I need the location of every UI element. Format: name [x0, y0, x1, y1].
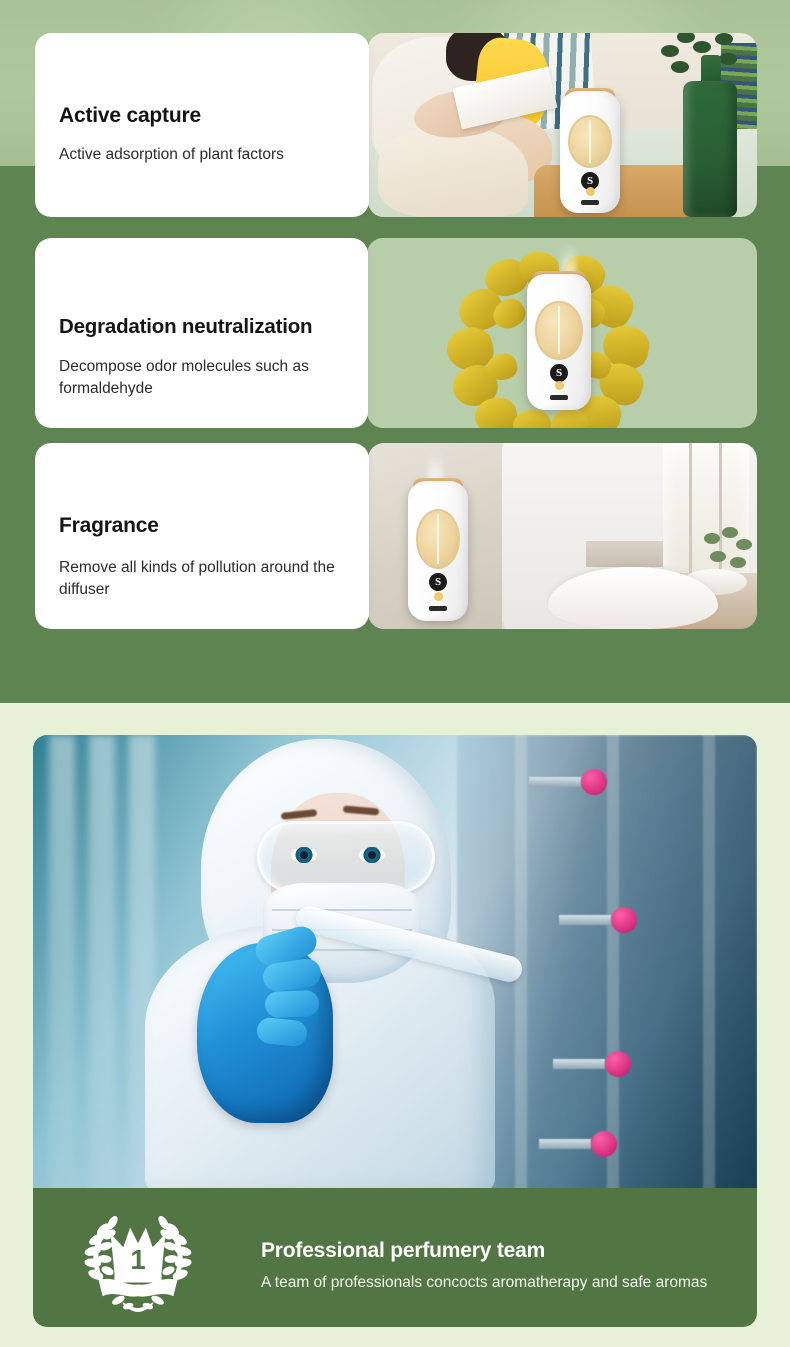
- feature-card-image-golden-flowers: S: [367, 238, 757, 428]
- feature-card-title: Active capture: [59, 104, 201, 128]
- feature-card-title: Fragrance: [59, 514, 159, 538]
- feature-card-degradation-neutralization[interactable]: S Degradation neutralization Decompose o…: [35, 238, 757, 428]
- device-logo: S: [550, 364, 568, 382]
- wall-niche: [586, 541, 670, 567]
- green-glass-bottle: [683, 81, 737, 217]
- feature-card-active-capture[interactable]: S Active capture Active adsorption of pl…: [35, 33, 757, 217]
- features-section: S Active capture Active adsorption of pl…: [0, 0, 790, 703]
- device-vent-slot: [581, 200, 599, 205]
- feature-card-fragrance[interactable]: S Fragrance Remove all kinds of pollutio…: [35, 443, 757, 629]
- device-vent-slot: [429, 606, 447, 611]
- device-indicator-light: [586, 187, 595, 196]
- device-body: S: [560, 91, 620, 213]
- diffuser-device: S: [560, 91, 620, 213]
- device-oil-window: [535, 301, 582, 359]
- device-logo: S: [429, 573, 447, 591]
- feature-card-description: Decompose odor molecules such as formald…: [59, 356, 359, 400]
- device-vent-slot: [550, 395, 568, 400]
- laurel-crown-badge-icon: 1: [79, 1204, 197, 1312]
- blanket: [378, 125, 528, 217]
- team-caption-banner: 1 Professional perfumery team A team of …: [33, 1188, 757, 1327]
- feature-card-description: Active adsorption of plant factors: [59, 144, 349, 166]
- scientist-figure: [145, 735, 575, 1195]
- device-oil-window: [416, 509, 460, 569]
- feature-card-description: Remove all kinds of pollution around the…: [59, 557, 359, 601]
- bathroom-scene: [502, 443, 757, 629]
- feature-card-title: Degradation neutralization: [59, 315, 312, 339]
- device-body: S: [408, 481, 468, 621]
- diffuser-device: S: [527, 274, 591, 410]
- diffuser-device: S: [408, 481, 468, 621]
- feature-card-image-living-room: S: [368, 33, 757, 217]
- team-section: 1 Professional perfumery team A team of …: [0, 703, 790, 1347]
- blue-glove: [197, 943, 333, 1123]
- team-description: A team of professionals concocts aromath…: [261, 1272, 731, 1294]
- feature-card-image-bathroom: S: [368, 443, 757, 629]
- device-oil-window: [568, 115, 612, 168]
- badge-number: 1: [130, 1244, 145, 1275]
- eye: [291, 847, 317, 863]
- laboratory-photo: [33, 735, 757, 1195]
- feature-card-text-panel: Degradation neutralization Decompose odo…: [35, 238, 368, 428]
- device-body: S: [527, 274, 591, 410]
- device-indicator-light: [555, 381, 564, 390]
- device-indicator-light: [434, 592, 443, 601]
- team-title: Professional perfumery team: [261, 1239, 545, 1263]
- eye: [359, 847, 385, 863]
- feature-card-text-panel: Fragrance Remove all kinds of pollution …: [35, 443, 369, 629]
- feature-card-text-panel: Active capture Active adsorption of plan…: [35, 33, 369, 217]
